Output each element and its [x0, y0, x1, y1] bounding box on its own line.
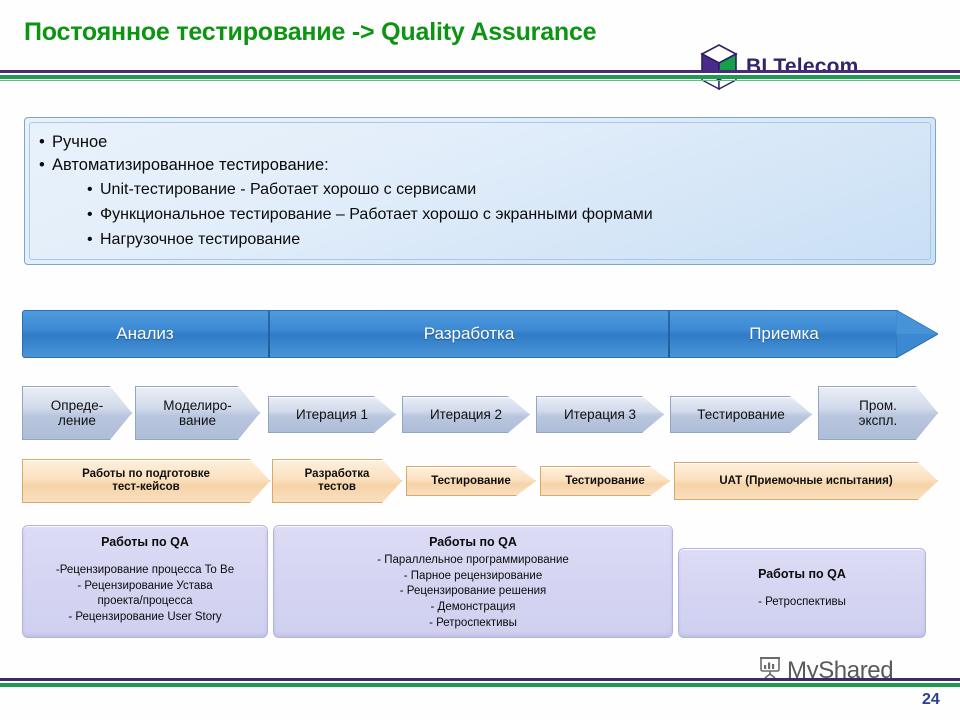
bullet-text: Функциональное тестирование – Работает х… [100, 206, 653, 223]
qa-activity-chevron-testing-1[interactable]: Тестирование [406, 466, 536, 496]
cube-logo-icon [700, 44, 738, 90]
qa-box-lines: - Параллельное программирование - Парное… [274, 553, 672, 631]
stage-chevron-iteration-3[interactable]: Итерация 3 [536, 396, 664, 433]
qa-activity-label: Работы по подготовкетест-кейсов [76, 468, 216, 494]
qa-activity-label: Тестирование [559, 475, 651, 488]
stage-chevron-iteration-2[interactable]: Итерация 2 [402, 396, 530, 433]
bullet-text: Нагрузочное тестирование [100, 231, 300, 248]
bullet-item: •Ручное [39, 134, 935, 151]
qa-box-acceptance[interactable]: Работы по QA - Ретроспективы [678, 548, 926, 638]
bullet-item: •Unit-тестирование - Работает хорошо с с… [87, 182, 935, 198]
qa-box-line: - Рецензирование решения [274, 584, 672, 600]
bullet-item: •Автоматизированное тестирование: [39, 157, 935, 174]
page-number: 24 [922, 691, 940, 709]
stage-chevron-prom-ekspl[interactable]: Пром.экспл. [818, 386, 938, 440]
phase-label-analiz: Анализ [22, 310, 268, 358]
bullet-text: Unit-тестирование - Работает хорошо с се… [100, 181, 476, 198]
qa-box-title: Работы по QA [679, 567, 925, 581]
stage-chevron-label: Пром.экспл. [853, 398, 904, 428]
qa-activity-label: Тестирование [425, 475, 517, 488]
stage-chevron-modelirovanie[interactable]: Моделиро-вание [135, 386, 260, 440]
stage-chevron-label: Опреде-ление [45, 398, 109, 428]
footer-divider-green [0, 683, 960, 687]
qa-activity-chevron-uat[interactable]: UAT (Приемочные испытания) [674, 462, 938, 500]
stage-chevron-iteration-1[interactable]: Итерация 1 [268, 396, 396, 433]
stage-chevron-label: Итерация 2 [424, 407, 508, 422]
brand-logo: BI Telecom [700, 44, 858, 90]
qa-box-line: - Параллельное программирование [274, 553, 672, 569]
phase-banner: Анализ Разработка Приемка [22, 310, 938, 358]
qa-box-title: Работы по QA [23, 535, 267, 549]
qa-box-lines: - Ретроспективы [679, 595, 925, 611]
qa-box-development[interactable]: Работы по QA - Параллельное программиров… [273, 525, 673, 638]
bullet-glyph: • [87, 232, 100, 248]
qa-box-line: проекта/процесса [23, 594, 267, 610]
qa-box-line: - Ретроспективы [679, 595, 925, 611]
qa-activity-chevron-test-dev[interactable]: Разработкатестов [272, 459, 402, 503]
qa-box-line: - Рецензирование User Story [23, 610, 267, 626]
bullet-item: •Функциональное тестирование – Работает … [87, 207, 935, 223]
phase-label-razrabotka: Разработка [270, 310, 668, 358]
qa-activity-chevron-test-case-prep[interactable]: Работы по подготовкетест-кейсов [22, 459, 270, 503]
bullet-glyph: • [39, 134, 52, 151]
phase-label-priemka: Приемка [670, 310, 898, 358]
bullet-glyph: • [87, 207, 100, 223]
stage-chevron-label: Итерация 1 [290, 407, 374, 422]
qa-activity-chevron-testing-2[interactable]: Тестирование [540, 466, 670, 496]
bullet-text: Автоматизированное тестирование: [52, 156, 329, 174]
qa-activity-label: UAT (Приемочные испытания) [713, 475, 898, 488]
qa-box-analysis[interactable]: Работы по QA -Рецензирование процесса To… [22, 525, 268, 638]
qa-box-line: - Демонстрация [274, 600, 672, 616]
stage-chevron-label: Итерация 3 [558, 407, 642, 422]
qa-box-line: - Ретроспективы [274, 616, 672, 632]
stage-chevron-opredelenie[interactable]: Опреде-ление [22, 386, 132, 440]
bullet-panel: •Ручное •Автоматизированное тестирование… [24, 117, 936, 265]
page-title: Постоянное тестирование -> Quality Assur… [24, 18, 596, 47]
phase-banner-arrow-tip [896, 310, 938, 358]
bullet-item: •Нагрузочное тестирование [87, 232, 935, 248]
qa-box-title: Работы по QA [274, 535, 672, 549]
header-divider-green [0, 75, 960, 79]
qa-activity-label: Разработкатестов [299, 468, 376, 494]
bullet-glyph: • [39, 157, 52, 174]
bullet-glyph: • [87, 182, 100, 198]
stage-chevron-testirovanie[interactable]: Тестирование [670, 396, 812, 433]
header-divider-green-thin [0, 80, 960, 81]
qa-box-lines: -Рецензирование процесса To Be - Рецензи… [23, 563, 267, 626]
stage-chevron-label: Моделиро-вание [157, 398, 237, 428]
bullet-text: Ручное [52, 133, 107, 151]
qa-box-line: - Рецензирование Устава [23, 579, 267, 595]
qa-box-line: -Рецензирование процесса To Be [23, 563, 267, 579]
stage-chevron-label: Тестирование [691, 407, 791, 422]
qa-box-line: - Парное рецензирование [274, 569, 672, 585]
